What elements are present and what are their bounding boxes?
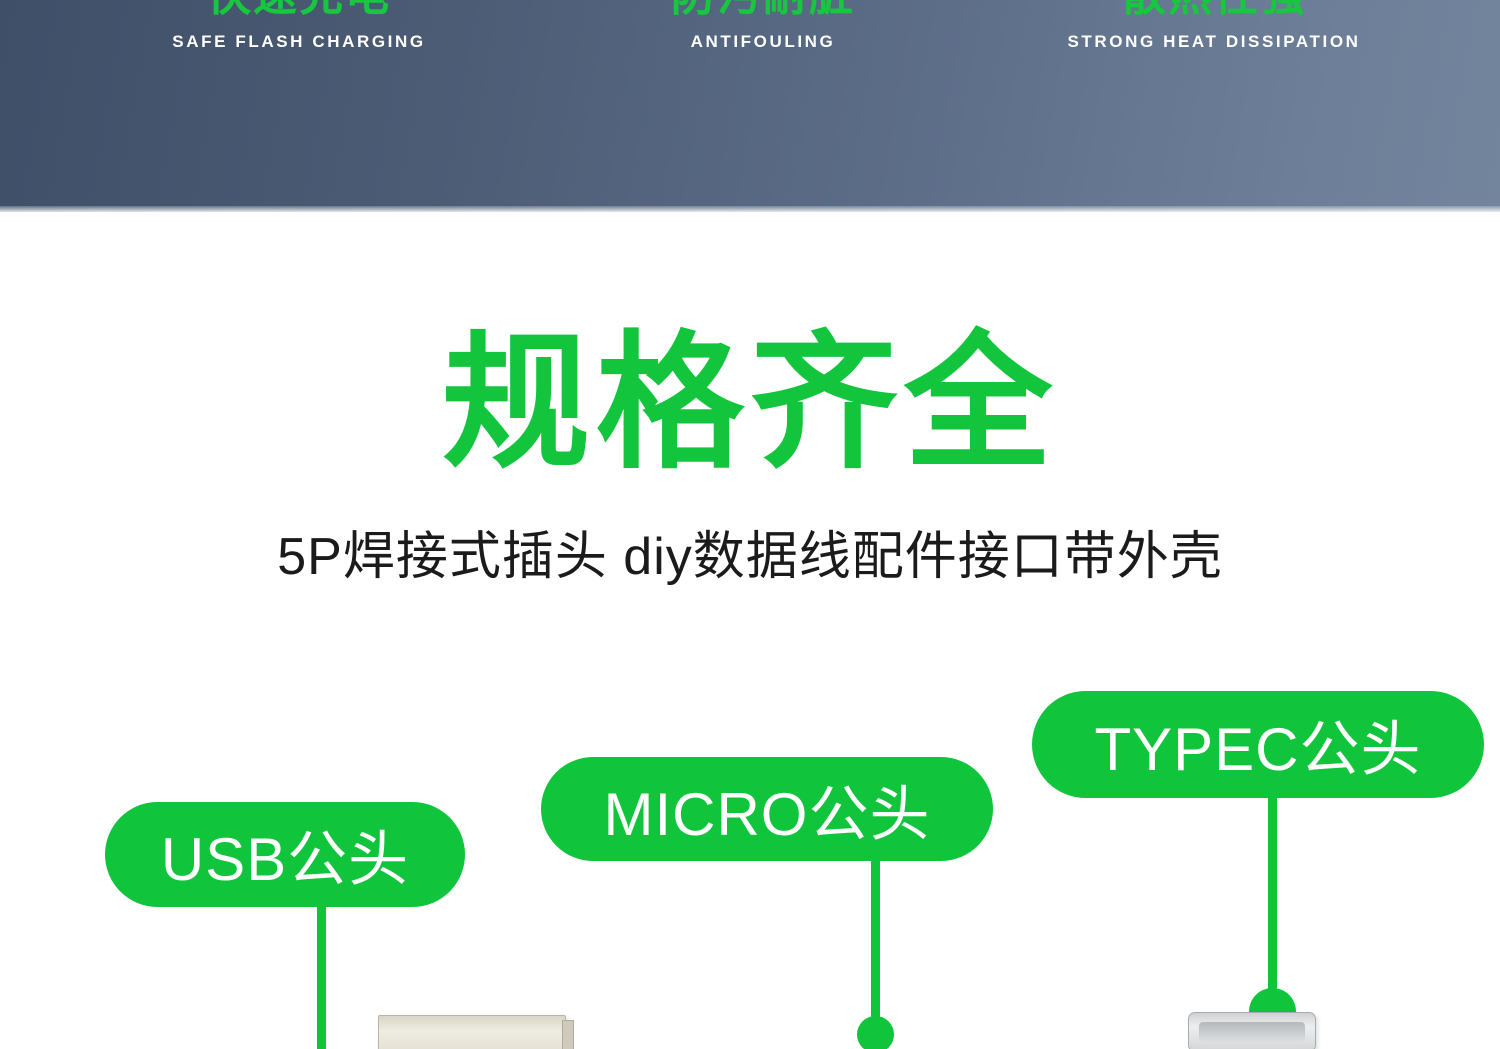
feature-title-cn-fast-charging: 快速充电 xyxy=(0,0,598,18)
feature-item-fast-charging: 快速充电 SAFE FLASH CHARGING xyxy=(0,0,598,100)
feature-item-antifouling: 防污耐脏 ANTIFOULING xyxy=(598,0,928,100)
page-title: 规格齐全 xyxy=(0,330,1500,478)
feature-title-cn-antifouling: 防污耐脏 xyxy=(598,0,928,18)
product-image-usb-connector xyxy=(378,1015,566,1049)
callout-stem-usb xyxy=(317,905,326,1049)
feature-title-en-heat-dissipation: STRONG HEAT DISSIPATION xyxy=(928,32,1500,52)
callout-label-micro[interactable]: MICRO公头 xyxy=(541,757,993,861)
page-subtitle: 5P焊接式插头 diy数据线配件接口带外壳 xyxy=(0,525,1500,590)
headline-block: 规格齐全 xyxy=(0,330,1500,478)
callout-label-usb[interactable]: USB公头 xyxy=(105,802,465,907)
callout-stem-dot-micro xyxy=(857,1016,894,1049)
callout-stem-typec xyxy=(1268,795,1277,1006)
feature-title-en-antifouling: ANTIFOULING xyxy=(598,32,928,52)
feature-band: 快速充电 SAFE FLASH CHARGING 防污耐脏 ANTIFOULIN… xyxy=(0,0,1500,212)
feature-title-en-fast-charging: SAFE FLASH CHARGING xyxy=(0,32,598,52)
callout-stem-micro xyxy=(871,858,880,1028)
callout-label-typec[interactable]: TYPEC公头 xyxy=(1032,691,1484,798)
feature-list: 快速充电 SAFE FLASH CHARGING 防污耐脏 ANTIFOULIN… xyxy=(0,0,1500,100)
product-detail-page: 快速充电 SAFE FLASH CHARGING 防污耐脏 ANTIFOULIN… xyxy=(0,0,1500,1049)
feature-title-cn-heat-dissipation: 散热性强 xyxy=(928,0,1500,18)
feature-item-heat-dissipation: 散热性强 STRONG HEAT DISSIPATION xyxy=(928,0,1500,100)
product-image-typec-connector xyxy=(1188,1012,1316,1049)
